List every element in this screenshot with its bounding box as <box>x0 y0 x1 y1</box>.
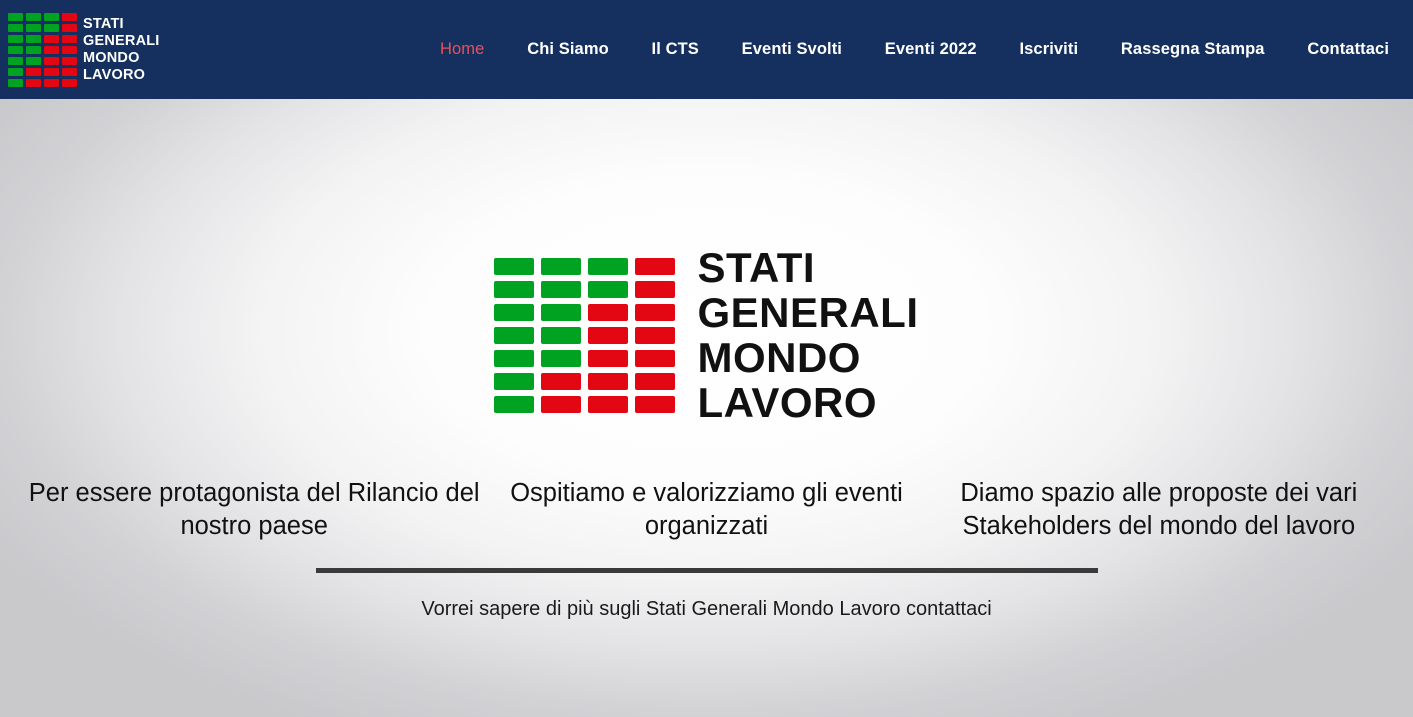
tagline-column: Ospitiamo e valorizziamo gli eventi orga… <box>480 477 932 543</box>
flag-cell-r-0-3 <box>62 13 77 21</box>
flag-cell-g-3-0 <box>8 46 23 54</box>
flag-cell-r-6-1 <box>541 396 581 413</box>
flag-cell-g-0-1 <box>26 13 41 21</box>
hero-flag-grid-icon <box>494 258 675 413</box>
flag-cell-g-0-0 <box>494 258 534 275</box>
flag-cell-g-4-1 <box>541 350 581 367</box>
flag-cell-r-6-3 <box>62 79 77 87</box>
flag-cell-g-2-0 <box>8 35 23 43</box>
hero-logo: STATI GENERALI MONDO LAVORO <box>494 245 918 425</box>
flag-cell-r-5-1 <box>26 68 41 76</box>
hero-logo-line-1: STATI <box>697 245 918 290</box>
flag-cell-g-0-1 <box>541 258 581 275</box>
flag-cell-g-1-1 <box>541 281 581 298</box>
flag-cell-r-4-3 <box>62 57 77 65</box>
flag-cell-g-4-1 <box>26 57 41 65</box>
flag-cell-g-1-0 <box>8 24 23 32</box>
nav-item-eventi-svolti[interactable]: Eventi Svolti <box>742 40 842 59</box>
flag-cell-r-2-3 <box>635 304 675 321</box>
nav-item-il-cts[interactable]: Il CTS <box>652 40 699 59</box>
flag-cell-r-2-2 <box>44 35 59 43</box>
flag-cell-r-5-2 <box>588 373 628 390</box>
flag-cell-r-6-2 <box>588 396 628 413</box>
flag-cell-g-2-1 <box>541 304 581 321</box>
brand-flag-grid-icon <box>8 11 77 89</box>
flag-cell-g-5-0 <box>494 373 534 390</box>
hero-logo-line-4: LAVORO <box>697 380 918 425</box>
flag-cell-g-6-0 <box>8 79 23 87</box>
section-divider <box>316 568 1098 573</box>
hero-wordmark: STATI GENERALI MONDO LAVORO <box>697 245 918 425</box>
nav-item-eventi-2022[interactable]: Eventi 2022 <box>885 40 977 59</box>
header-brand-logo[interactable]: STATI GENERALI MONDO LAVORO <box>8 11 160 89</box>
flag-cell-g-1-2 <box>44 24 59 32</box>
main-navigation: HomeChi SiamoIl CTSEventi SvoltiEventi 2… <box>440 40 1389 59</box>
flag-cell-g-3-0 <box>494 327 534 344</box>
flag-cell-g-0-2 <box>588 258 628 275</box>
flag-cell-g-5-0 <box>8 68 23 76</box>
flag-cell-r-5-2 <box>44 68 59 76</box>
flag-cell-r-5-3 <box>62 68 77 76</box>
flag-cell-g-6-0 <box>494 396 534 413</box>
flag-cell-g-1-0 <box>494 281 534 298</box>
flag-cell-r-3-2 <box>588 327 628 344</box>
flag-cell-r-4-3 <box>635 350 675 367</box>
brand-wordmark: STATI GENERALI MONDO LAVORO <box>83 16 160 84</box>
nav-item-home[interactable]: Home <box>440 40 484 59</box>
flag-cell-r-6-1 <box>26 79 41 87</box>
brand-line-4: LAVORO <box>83 67 160 84</box>
nav-item-rassegna-stampa[interactable]: Rassegna Stampa <box>1121 40 1265 59</box>
tagline-columns: Per essere protagonista del Rilancio del… <box>0 477 1413 543</box>
nav-item-chi-siamo[interactable]: Chi Siamo <box>527 40 609 59</box>
flag-cell-r-3-3 <box>62 46 77 54</box>
flag-cell-g-2-0 <box>494 304 534 321</box>
cta-text: Vorrei sapere di più sugli Stati General… <box>0 595 1413 624</box>
hero-section: STATI GENERALI MONDO LAVORO <box>0 99 1413 425</box>
flag-cell-r-6-2 <box>44 79 59 87</box>
flag-cell-g-3-1 <box>26 46 41 54</box>
flag-cell-g-4-0 <box>8 57 23 65</box>
flag-cell-r-2-3 <box>62 35 77 43</box>
tagline-column: Per essere protagonista del Rilancio del… <box>28 477 480 543</box>
flag-cell-r-5-3 <box>635 373 675 390</box>
flag-cell-r-3-2 <box>44 46 59 54</box>
brand-line-2: GENERALI <box>83 33 160 50</box>
flag-cell-r-2-2 <box>588 304 628 321</box>
hero-logo-line-2: GENERALI <box>697 290 918 335</box>
flag-cell-r-5-1 <box>541 373 581 390</box>
site-header: STATI GENERALI MONDO LAVORO HomeChi Siam… <box>0 0 1413 99</box>
flag-cell-r-0-3 <box>635 258 675 275</box>
brand-line-3: MONDO <box>83 50 160 67</box>
flag-cell-g-0-0 <box>8 13 23 21</box>
hero-logo-line-3: MONDO <box>697 335 918 380</box>
flag-cell-r-3-3 <box>635 327 675 344</box>
flag-cell-g-2-1 <box>26 35 41 43</box>
brand-line-1: STATI <box>83 16 160 33</box>
flag-cell-r-6-3 <box>635 396 675 413</box>
nav-item-iscriviti[interactable]: Iscriviti <box>1019 40 1078 59</box>
flag-cell-r-1-3 <box>62 24 77 32</box>
flag-cell-g-1-1 <box>26 24 41 32</box>
flag-cell-g-0-2 <box>44 13 59 21</box>
flag-cell-r-1-3 <box>635 281 675 298</box>
tagline-column: Diamo spazio alle proposte dei vari Stak… <box>933 477 1385 543</box>
flag-cell-r-4-2 <box>44 57 59 65</box>
flag-cell-g-1-2 <box>588 281 628 298</box>
nav-item-contattaci[interactable]: Contattaci <box>1307 40 1389 59</box>
flag-cell-g-4-0 <box>494 350 534 367</box>
flag-cell-g-3-1 <box>541 327 581 344</box>
flag-cell-r-4-2 <box>588 350 628 367</box>
